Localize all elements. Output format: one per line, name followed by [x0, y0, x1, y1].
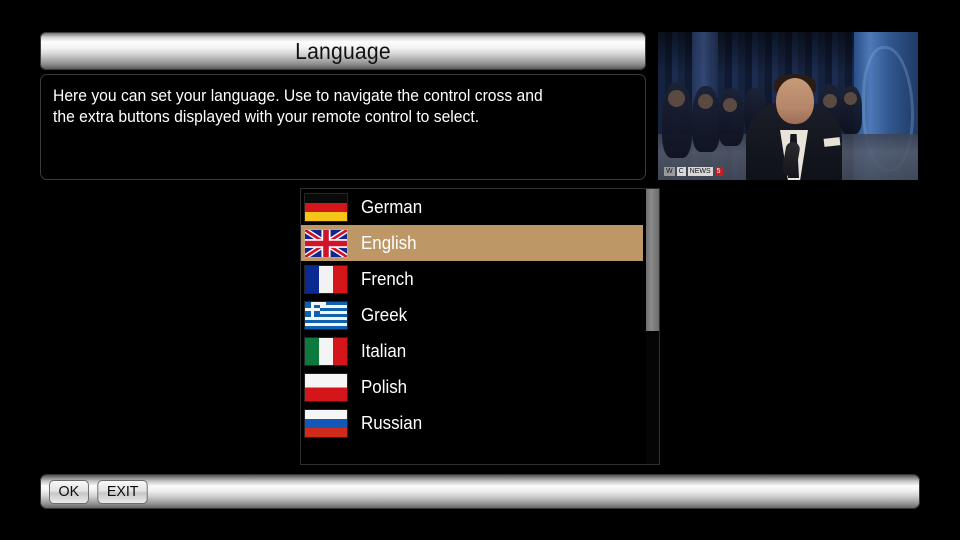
video-crowd-head: [698, 94, 713, 109]
list-item-german[interactable]: German: [301, 189, 643, 225]
logo-part-4: 5: [715, 167, 723, 176]
flag-united-kingdom-icon: [305, 230, 347, 257]
tv-settings-screen: Language Here you can set your language.…: [0, 0, 960, 540]
flag-greece-cross: [311, 302, 314, 317]
list-item-label: French: [361, 269, 414, 290]
list-item-label: English: [361, 233, 417, 254]
list-item-label: Italian: [361, 341, 406, 362]
list-item-label: German: [361, 197, 422, 218]
video-crowd-head: [844, 92, 857, 105]
exit-button[interactable]: EXIT: [97, 480, 148, 504]
list-item-italian[interactable]: Italian: [301, 333, 643, 369]
live-video-preview[interactable]: W C NEWS 5: [658, 32, 918, 180]
flag-germany-icon: [305, 194, 347, 221]
flag-poland-icon: [305, 374, 347, 401]
broadcaster-logo: W C NEWS 5: [664, 167, 723, 176]
logo-part-2: C: [677, 167, 686, 176]
video-reporter-head: [776, 78, 814, 124]
list-item-greek[interactable]: Greek: [301, 297, 643, 333]
video-crowd-head: [668, 90, 685, 107]
video-crowd-figure: [718, 88, 744, 146]
list-item-russian[interactable]: Russian: [301, 405, 643, 441]
scrollbar-thumb[interactable]: [646, 189, 659, 331]
list-item-label: Greek: [361, 305, 407, 326]
description-line-1: Here you can set your language. Use to n…: [53, 86, 604, 107]
ok-button[interactable]: OK: [49, 480, 89, 504]
language-list-rows: German English French: [301, 189, 643, 441]
list-item-label: Russian: [361, 413, 422, 434]
description-line-2: the extra buttons displayed with your re…: [53, 107, 604, 128]
list-scrollbar[interactable]: [646, 189, 659, 464]
logo-part-3: NEWS: [688, 167, 713, 176]
list-item-english[interactable]: English: [301, 225, 643, 261]
video-crowd-head: [723, 98, 737, 112]
flag-greece-icon: [305, 302, 347, 329]
help-description-panel: Here you can set your language. Use to n…: [40, 74, 646, 180]
flag-france-icon: [305, 266, 347, 293]
flag-russia-icon: [305, 410, 347, 437]
list-item-polish[interactable]: Polish: [301, 369, 643, 405]
page-title-bar: Language: [40, 32, 646, 70]
flag-italy-icon: [305, 338, 347, 365]
video-reporter-pocket-square: [824, 137, 841, 147]
list-item-french[interactable]: French: [301, 261, 643, 297]
logo-part-1: W: [664, 167, 675, 176]
video-crowd-head: [823, 94, 837, 108]
softkey-bar: OK EXIT: [40, 474, 920, 509]
list-item-label: Polish: [361, 377, 407, 398]
language-list-panel[interactable]: German English French: [300, 188, 660, 465]
page-title: Language: [295, 38, 391, 65]
